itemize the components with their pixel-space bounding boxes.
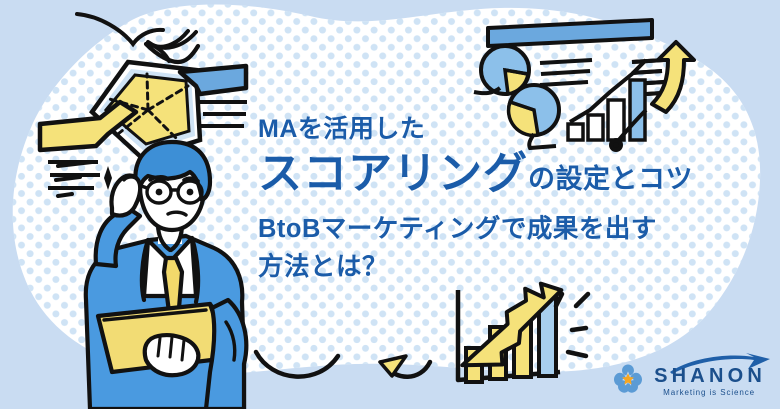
shanon-swirl-icon	[611, 362, 645, 396]
title-line-4: 方法とは？	[258, 248, 708, 286]
shanon-logo[interactable]: SHANON Marketing is Science	[611, 362, 766, 397]
logo-wordmark: SHANON	[650, 366, 766, 386]
logo-tagline: Marketing is Science	[661, 389, 755, 397]
title-line-1: MAを活用した	[258, 110, 708, 148]
title-keyword-suffix: の設定とコツ	[528, 164, 693, 194]
blog-thumbnail-banner: MAを活用した スコアリングの設定とコツ BtoBマーケティングで成果を出す 方…	[0, 0, 780, 409]
logo-text-block: SHANON Marketing is Science	[650, 366, 766, 397]
title-keyword: スコアリング	[258, 149, 528, 198]
title-line-2: スコアリングの設定とコツ	[258, 148, 708, 210]
title-line-3: BtoBマーケティングで成果を出す	[258, 210, 708, 248]
banner-title: MAを活用した スコアリングの設定とコツ BtoBマーケティングで成果を出す 方…	[258, 110, 708, 286]
